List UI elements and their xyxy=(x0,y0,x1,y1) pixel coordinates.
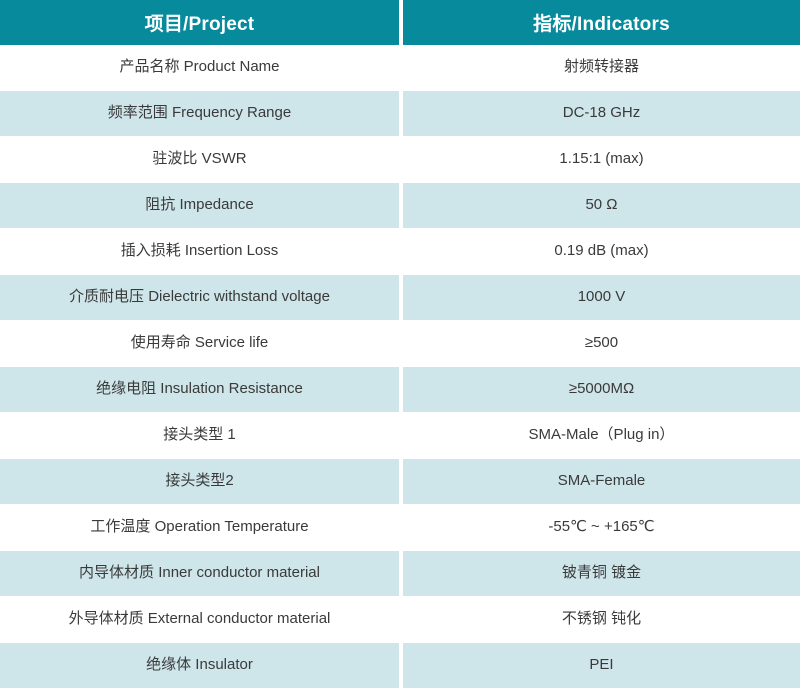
cell-indicator: SMA-Male（Plug in） xyxy=(403,413,800,459)
cell-indicator: -55℃ ~ +165℃ xyxy=(403,505,800,551)
cell-indicator: ≥5000MΩ xyxy=(403,367,800,413)
cell-project: 介质耐电压 Dielectric withstand voltage xyxy=(0,275,399,321)
cell-project: 产品名称 Product Name xyxy=(0,45,399,91)
table-row: 绝缘电阻 Insulation Resistance≥5000MΩ xyxy=(0,367,800,413)
table-row: 阻抗 Impedance50 Ω xyxy=(0,183,800,229)
cell-project: 绝缘电阻 Insulation Resistance xyxy=(0,367,399,413)
cell-indicator: DC-18 GHz xyxy=(403,91,800,137)
cell-project: 工作温度 Operation Temperature xyxy=(0,505,399,551)
table-header: 项目/Project 指标/Indicators xyxy=(0,0,800,45)
cell-project: 驻波比 VSWR xyxy=(0,137,399,183)
cell-project: 频率范围 Frequency Range xyxy=(0,91,399,137)
column-header-project: 项目/Project xyxy=(0,0,399,45)
header-row: 项目/Project 指标/Indicators xyxy=(0,0,800,45)
cell-project: 绝缘体 Insulator xyxy=(0,643,399,688)
cell-indicator: 不锈钢 钝化 xyxy=(403,597,800,643)
cell-indicator: 铍青铜 镀金 xyxy=(403,551,800,597)
table-row: 驻波比 VSWR1.15:1 (max) xyxy=(0,137,800,183)
table-row: 介质耐电压 Dielectric withstand voltage1000 V xyxy=(0,275,800,321)
table-row: 工作温度 Operation Temperature-55℃ ~ +165℃ xyxy=(0,505,800,551)
table-row: 内导体材质 Inner conductor material铍青铜 镀金 xyxy=(0,551,800,597)
table-row: 使用寿命 Service life≥500 xyxy=(0,321,800,367)
specification-table: 项目/Project 指标/Indicators 产品名称 Product Na… xyxy=(0,0,800,688)
cell-indicator: ≥500 xyxy=(403,321,800,367)
cell-project: 接头类型2 xyxy=(0,459,399,505)
table-body: 产品名称 Product Name射频转接器频率范围 Frequency Ran… xyxy=(0,45,800,688)
cell-indicator: 1.15:1 (max) xyxy=(403,137,800,183)
table-row: 插入损耗 Insertion Loss0.19 dB (max) xyxy=(0,229,800,275)
cell-indicator: SMA-Female xyxy=(403,459,800,505)
cell-indicator: 1000 V xyxy=(403,275,800,321)
cell-project: 插入损耗 Insertion Loss xyxy=(0,229,399,275)
table-row: 绝缘体 InsulatorPEI xyxy=(0,643,800,688)
cell-project: 外导体材质 External conductor material xyxy=(0,597,399,643)
cell-indicator: 50 Ω xyxy=(403,183,800,229)
cell-project: 接头类型 1 xyxy=(0,413,399,459)
cell-project: 使用寿命 Service life xyxy=(0,321,399,367)
table-row: 外导体材质 External conductor material不锈钢 钝化 xyxy=(0,597,800,643)
cell-project: 内导体材质 Inner conductor material xyxy=(0,551,399,597)
cell-indicator: PEI xyxy=(403,643,800,688)
table-row: 接头类型2SMA-Female xyxy=(0,459,800,505)
table-row: 频率范围 Frequency RangeDC-18 GHz xyxy=(0,91,800,137)
cell-project: 阻抗 Impedance xyxy=(0,183,399,229)
table-row: 接头类型 1SMA-Male（Plug in） xyxy=(0,413,800,459)
column-header-indicators: 指标/Indicators xyxy=(403,0,800,45)
cell-indicator: 射频转接器 xyxy=(403,45,800,91)
table-row: 产品名称 Product Name射频转接器 xyxy=(0,45,800,91)
cell-indicator: 0.19 dB (max) xyxy=(403,229,800,275)
